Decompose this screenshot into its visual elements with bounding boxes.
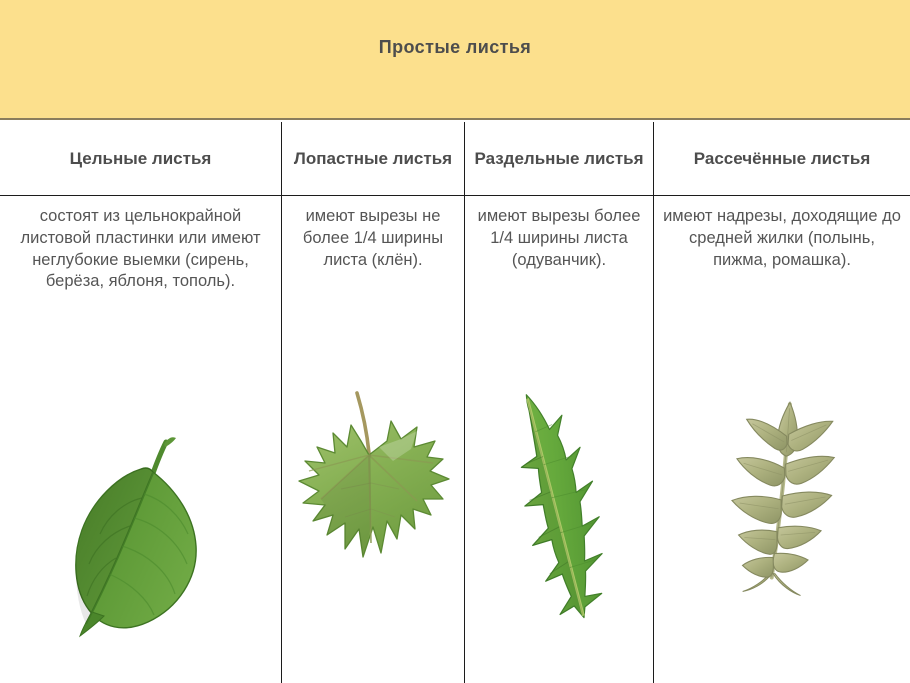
table-column-entire: Цельные листья состоят из цельнокрайной …	[0, 122, 281, 683]
column-description-divided: имеют вырезы более 1/4 ширины листа (оду…	[465, 206, 653, 271]
column-header-label: Раздельные листья	[474, 148, 643, 169]
table-column-divided: Раздельные листья имеют вырезы более 1/4…	[464, 122, 653, 683]
column-description-entire: состоят из цельнокрайной листовой пласти…	[0, 206, 281, 293]
wormwood-dissected-leaf-icon	[707, 382, 857, 622]
title-band: Простые листья	[0, 0, 910, 120]
column-header-label: Лопастные листья	[294, 148, 452, 169]
column-header-label: Рассечённые листья	[694, 148, 870, 169]
table-column-dissected: Рассечённые листья имеют надрезы, доходя…	[653, 122, 910, 683]
column-header-lobed: Лопастные листья	[282, 122, 464, 196]
column-description-lobed: имеют вырезы не более 1/4 ширины листа (…	[282, 206, 464, 271]
leaf-image-wormwood	[654, 382, 910, 622]
column-header-divided: Раздельные листья	[465, 122, 653, 196]
slide-simple-leaves: Простые листья Цельные листья состоят из…	[0, 0, 910, 683]
maple-lobed-leaf-icon	[283, 377, 463, 627]
table-column-lobed: Лопастные листья имеют вырезы не более 1…	[281, 122, 464, 683]
column-header-dissected: Рассечённые листья	[654, 122, 910, 196]
leaf-types-table: Цельные листья состоят из цельнокрайной …	[0, 122, 910, 683]
dandelion-divided-leaf-icon	[494, 380, 624, 630]
page-title: Простые листья	[0, 37, 910, 58]
entire-leaf-icon	[56, 412, 226, 642]
column-description-dissected: имеют надрезы, доходящие до средней жилк…	[654, 206, 910, 271]
column-header-entire: Цельные листья	[0, 122, 281, 196]
leaf-image-dandelion	[465, 380, 653, 630]
leaf-image-maple	[282, 377, 464, 627]
leaf-image-entire	[0, 412, 281, 642]
column-header-label: Цельные листья	[70, 148, 212, 169]
